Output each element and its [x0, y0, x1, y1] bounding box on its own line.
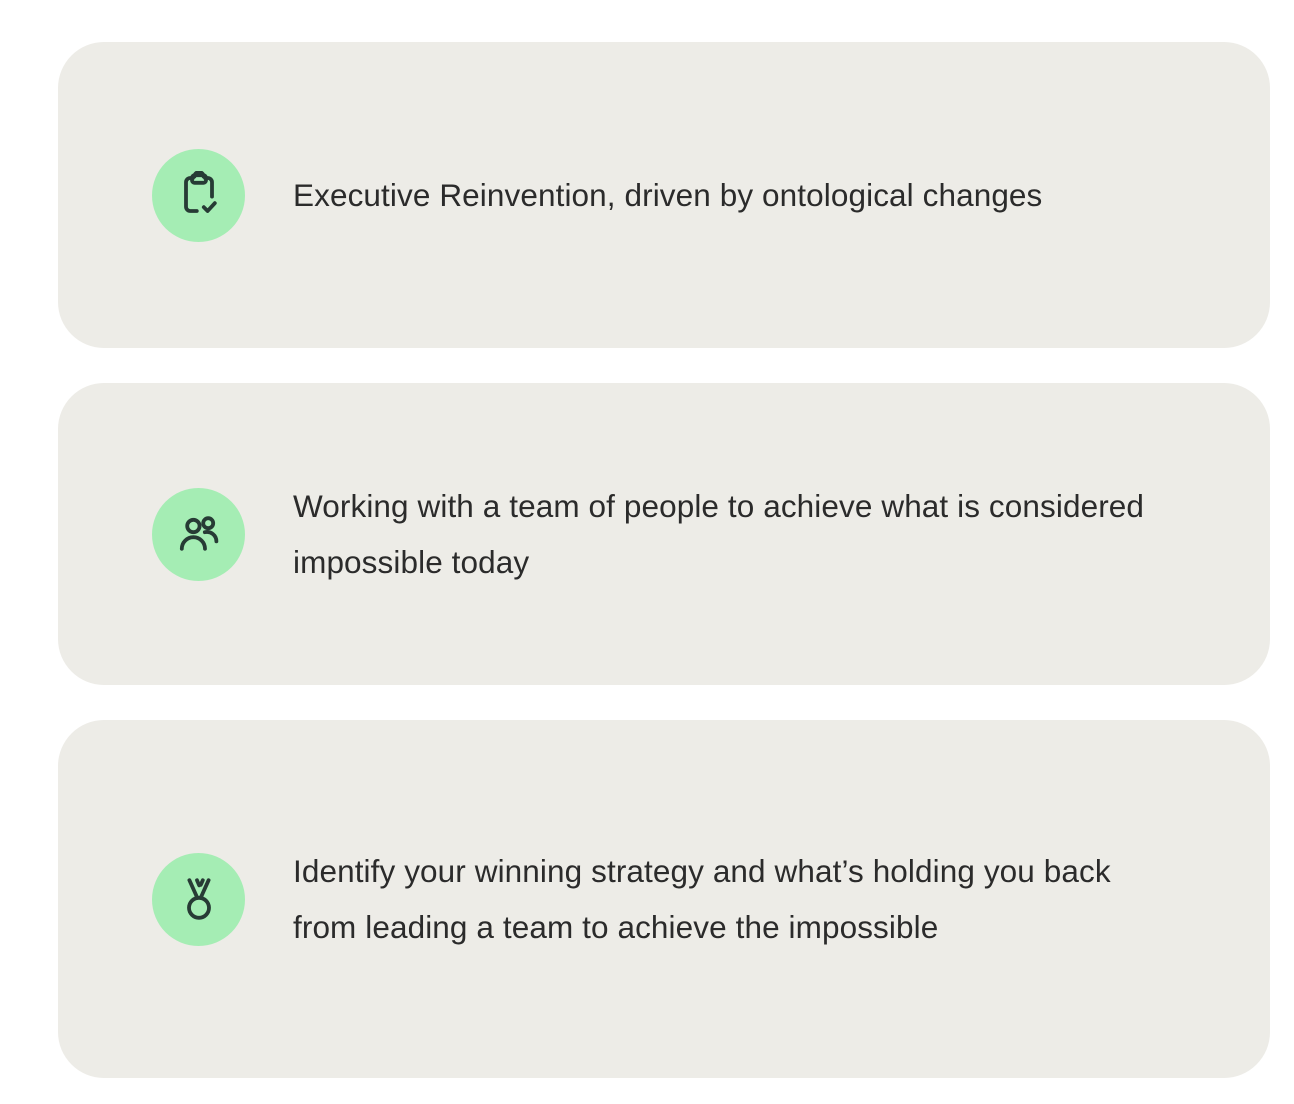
clipboard-check-icon-badge: [152, 149, 245, 242]
clipboard-check-icon: [175, 171, 223, 219]
benefit-card-1-text: Executive Reinvention, driven by ontolog…: [293, 167, 1173, 223]
medal-icon-badge: [152, 853, 245, 946]
benefits-card-list: Executive Reinvention, driven by ontolog…: [0, 0, 1294, 1104]
benefit-card-3-text: Identify your winning strategy and what’…: [293, 843, 1173, 955]
medal-icon: [175, 875, 223, 923]
benefit-card-2-text: Working with a team of people to achieve…: [293, 478, 1193, 590]
benefit-card-2: Working with a team of people to achieve…: [58, 383, 1270, 685]
benefit-card-3: Identify your winning strategy and what’…: [58, 720, 1270, 1078]
benefit-card-1: Executive Reinvention, driven by ontolog…: [58, 42, 1270, 348]
users-icon-badge: [152, 488, 245, 581]
users-icon: [175, 510, 223, 558]
